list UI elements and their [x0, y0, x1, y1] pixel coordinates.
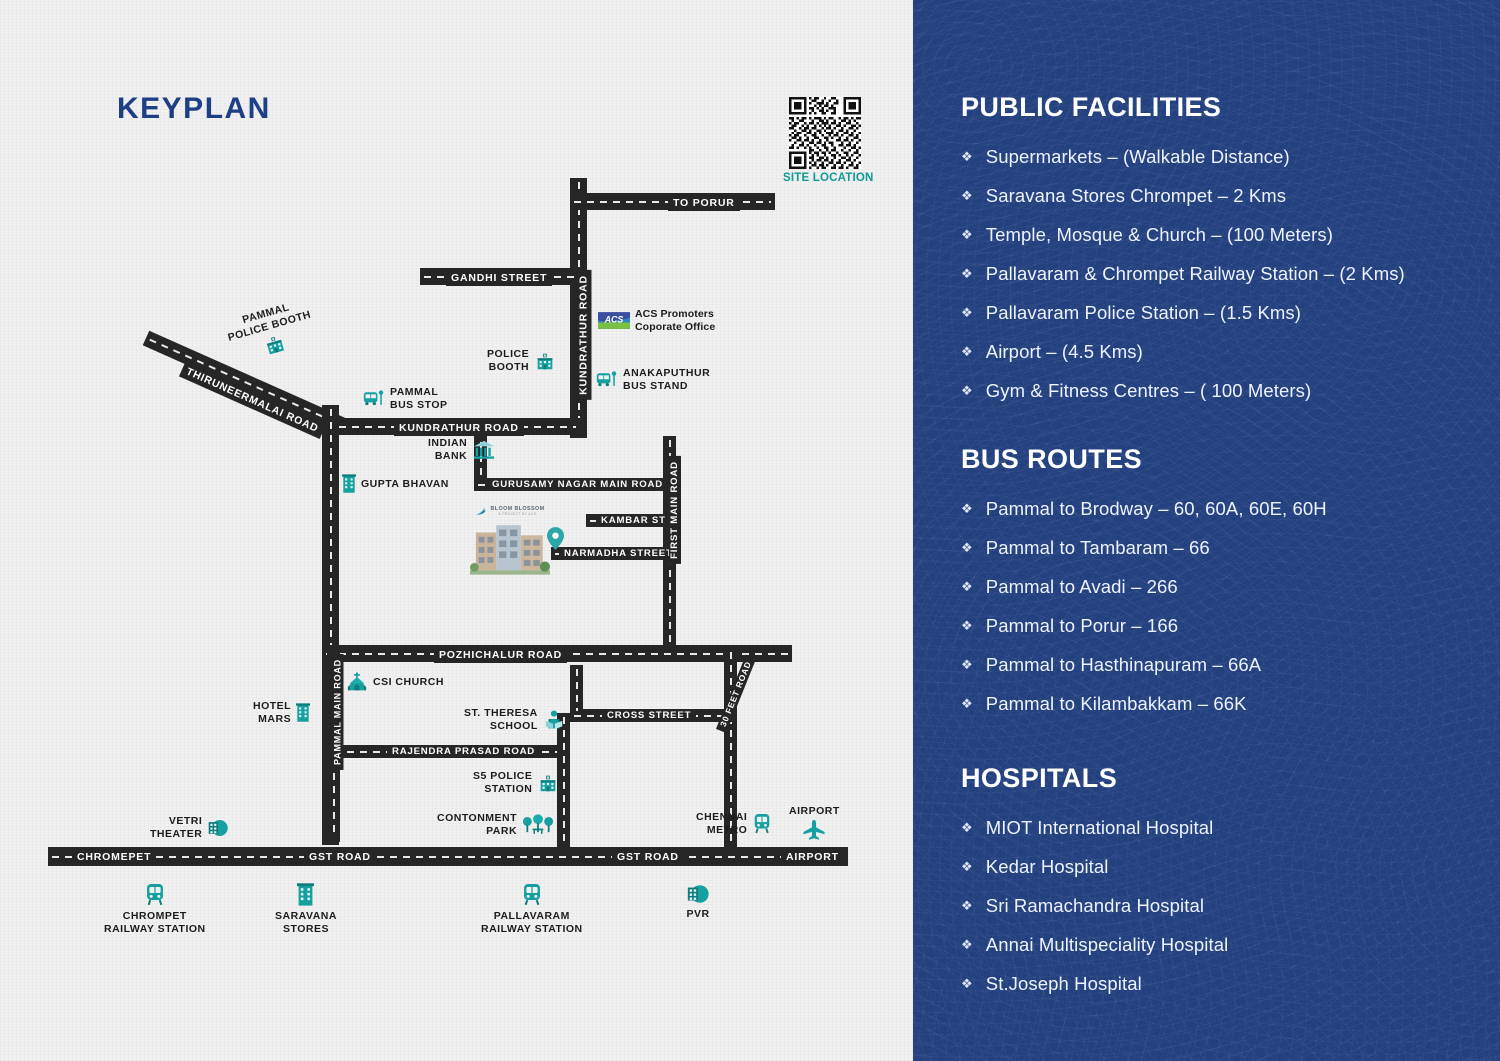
diamond-bullet-icon: ❖ — [961, 847, 973, 886]
list-item: ❖MIOT International Hospital — [961, 808, 1500, 847]
theater-icon — [686, 883, 710, 905]
school-icon — [543, 709, 565, 731]
landmark-label-line1: CSI CHURCH — [373, 676, 444, 688]
site-location-qr-block[interactable]: SITE LOCATION — [789, 97, 861, 184]
police-station-icon — [261, 331, 288, 358]
list-item: ❖Pammal to Hasthinapuram – 66A — [961, 645, 1500, 684]
section-title-bus-routes: BUS ROUTES — [961, 444, 1500, 475]
road-label-first-main: FIRST MAIN ROAD — [669, 456, 681, 564]
landmark-label-line1: PALLAVARAM — [494, 910, 570, 922]
project-site-render: BLOOM BLOSSOM A PROJECT BY ACS — [470, 505, 550, 577]
section-title-public-facilities: PUBLIC FACILITIES — [961, 92, 1500, 123]
landmark-chennai-metro: CHENNAI METRO — [696, 811, 772, 836]
landmark-label-line1: ACS Promoters — [635, 308, 714, 320]
list-item-label: MIOT International Hospital — [986, 808, 1214, 847]
landmark-label-line2: BANK — [435, 450, 467, 462]
road-label-pammal-main: PAMMAL MAIN ROAD — [333, 654, 344, 770]
list-item: ❖Pammal to Tambaram – 66 — [961, 528, 1500, 567]
list-item: ❖Pammal to Avadi – 266 — [961, 567, 1500, 606]
list-item: ❖Pallavaram Police Station – (1.5 Kms) — [961, 293, 1500, 332]
list-item-label: Gym & Fitness Centres – ( 100 Meters) — [986, 371, 1312, 410]
diamond-bullet-icon: ❖ — [961, 176, 973, 215]
landmark-label-line1: PVR — [686, 908, 709, 920]
list-item-label: St.Joseph Hospital — [986, 964, 1142, 1003]
list-item: ❖Supermarkets – (Walkable Distance) — [961, 137, 1500, 176]
list-item: ❖Saravana Stores Chrompet – 2 Kms — [961, 176, 1500, 215]
diamond-bullet-icon: ❖ — [961, 528, 973, 567]
bus-stop-icon — [596, 370, 618, 390]
road-label-kundrathur-horizontal: KUNDRATHUR ROAD — [394, 421, 524, 436]
diamond-bullet-icon: ❖ — [961, 254, 973, 293]
list-item-label: Saravana Stores Chrompet – 2 Kms — [986, 176, 1286, 215]
landmark-police-booth: POLICE BOOTH — [487, 348, 556, 373]
bank-icon — [472, 439, 496, 461]
diamond-bullet-icon: ❖ — [961, 371, 973, 410]
landmark-pammal-bus-stop: PAMMAL BUS STOP — [363, 386, 447, 411]
landmark-label-line1: GUPTA BHAVAN — [361, 478, 449, 490]
landmark-gupta-bhavan: GUPTA BHAVAN — [342, 474, 449, 494]
diamond-bullet-icon: ❖ — [961, 489, 973, 528]
landmark-pammal-police-booth: PAMMAL POLICE BOOTH — [223, 296, 319, 367]
diamond-bullet-icon: ❖ — [961, 215, 973, 254]
landmark-hotel-mars: HOTEL MARS — [253, 700, 310, 725]
road-label-gandhi-street: GANDHI STREET — [446, 271, 552, 286]
road-link-cross — [570, 665, 583, 715]
list-item-label: Kedar Hospital — [986, 847, 1109, 886]
landmark-label-line1: VETRI — [169, 815, 202, 827]
map-pin-icon[interactable] — [547, 527, 564, 550]
landmark-label-line2: BUS STOP — [390, 399, 447, 411]
road-label-to-porur: TO PORUR — [668, 196, 740, 211]
road-label-rajendra-prasad: RAJENDRA PRASAD ROAD — [387, 746, 540, 758]
project-building-illustration — [470, 517, 550, 577]
landmark-indian-bank: INDIAN BANK — [428, 437, 496, 462]
landmark-label-line1: AIRPORT — [789, 805, 840, 817]
landmark-label-line1: CHROMPET — [123, 910, 187, 922]
list-item: ❖Pallavaram & Chrompet Railway Station –… — [961, 254, 1500, 293]
list-item: ❖Sri Ramachandra Hospital — [961, 886, 1500, 925]
diamond-bullet-icon: ❖ — [961, 332, 973, 371]
landmark-airport: AIRPORT — [789, 805, 840, 841]
road-label-chromepet: CHROMEPET — [72, 850, 156, 865]
diamond-bullet-icon: ❖ — [961, 808, 973, 847]
info-panel: PUBLIC FACILITIES ❖Supermarkets – (Walka… — [913, 0, 1500, 1061]
landmark-label-line2: BUS STAND — [623, 380, 688, 392]
landmark-label-line2: THEATER — [150, 828, 202, 840]
train-icon — [144, 883, 166, 907]
landmark-vetri-theater: VETRI THEATER — [150, 815, 229, 840]
landmark-label-line2: PARK — [486, 825, 517, 837]
list-item: ❖Annai Multispeciality Hospital — [961, 925, 1500, 964]
theater-icon — [207, 818, 229, 838]
bloom-blossom-logo-icon — [475, 505, 487, 516]
landmark-label-line2: STORES — [283, 923, 329, 935]
page-title: KEYPLAN — [117, 92, 271, 126]
diamond-bullet-icon: ❖ — [961, 137, 973, 176]
landmark-csi-church: CSI CHURCH — [346, 672, 444, 692]
list-item: ❖Kedar Hospital — [961, 847, 1500, 886]
church-icon — [346, 672, 368, 692]
list-item-label: Temple, Mosque & Church – (100 Meters) — [986, 215, 1333, 254]
road-label-kambar-st: KAMBAR ST — [596, 515, 671, 527]
landmark-label-line1: INDIAN — [428, 437, 467, 449]
train-icon — [521, 883, 543, 907]
list-item: ❖Airport – (4.5 Kms) — [961, 332, 1500, 371]
landmark-chrompet-railway-station: CHROMPET RAILWAY STATION — [104, 883, 206, 935]
landmark-label-line1: HOTEL — [253, 700, 291, 712]
police-station-icon — [534, 350, 556, 372]
landmark-st-theresa-school: ST. THERESA SCHOOL — [464, 707, 565, 732]
diamond-bullet-icon: ❖ — [961, 925, 973, 964]
landmark-label-line2: RAILWAY STATION — [104, 923, 206, 935]
airplane-icon — [802, 819, 826, 841]
list-item-label: Pammal to Brodway – 60, 60A, 60E, 60H — [986, 489, 1327, 528]
list-item-label: Pammal to Porur – 166 — [986, 606, 1178, 645]
qr-code-icon[interactable] — [789, 97, 861, 169]
landmark-label-line1: S5 POLICE — [473, 770, 532, 782]
landmark-label-line1: SARAVANA — [275, 910, 337, 922]
list-item: ❖St.Joseph Hospital — [961, 964, 1500, 1003]
landmark-label-line2: MARS — [258, 713, 291, 725]
building-icon — [342, 474, 356, 494]
landmark-s5-police-station: S5 POLICE STATION — [473, 770, 559, 795]
landmark-label-line2: STATION — [484, 783, 532, 795]
landmark-label-line1: POLICE — [487, 348, 529, 360]
road-label-pozhichalur: POZHICHALUR ROAD — [434, 648, 567, 663]
list-item: ❖Gym & Fitness Centres – ( 100 Meters) — [961, 371, 1500, 410]
site-location-label: SITE LOCATION — [783, 172, 861, 184]
road-label-gst-left: GST ROAD — [304, 850, 376, 865]
svg-text:ACS: ACS — [604, 315, 624, 325]
road-label-narmadha-street: NARMADHA STREET — [559, 548, 678, 560]
landmark-pvr: PVR — [686, 883, 710, 921]
landmark-saravana-stores: SARAVANA STORES — [275, 883, 337, 935]
landmark-label-line1: CHENNAI — [696, 811, 747, 823]
project-logo-tagline: A PROJECT BY ACS — [490, 512, 544, 516]
landmark-label-line2: BOOTH — [489, 361, 529, 373]
landmark-label-line2: Coporate Office — [635, 321, 715, 333]
diamond-bullet-icon: ❖ — [961, 645, 973, 684]
road-label-gst-right: GST ROAD — [612, 850, 684, 865]
diamond-bullet-icon: ❖ — [961, 293, 973, 332]
landmark-label-line2: METRO — [707, 824, 747, 836]
list-item-label: Pammal to Avadi – 266 — [986, 567, 1178, 606]
landmark-pallavaram-railway-station: PALLAVARAM RAILWAY STATION — [481, 883, 583, 935]
diamond-bullet-icon: ❖ — [961, 964, 973, 1003]
list-item-label: Pammal to Tambaram – 66 — [986, 528, 1210, 567]
train-icon — [752, 813, 772, 835]
road-label-gurusamy-nagar: GURUSAMY NAGAR MAIN ROAD — [487, 479, 668, 491]
list-item-label: Annai Multispeciality Hospital — [986, 925, 1229, 964]
list-item-label: Pammal to Kilambakkam – 66K — [986, 684, 1247, 723]
road-label-kundrathur-vertical: KUNDRATHUR ROAD — [577, 270, 592, 400]
diamond-bullet-icon: ❖ — [961, 606, 973, 645]
landmark-label-line2: RAILWAY STATION — [481, 923, 583, 935]
road-label-airport: AIRPORT — [781, 850, 844, 865]
list-item: ❖Pammal to Kilambakkam – 66K — [961, 684, 1500, 723]
landmark-label-line1: ST. THERESA — [464, 707, 538, 719]
list-public-facilities: ❖Supermarkets – (Walkable Distance) ❖Sar… — [961, 137, 1500, 410]
bus-stop-icon — [363, 389, 385, 409]
list-item-label: Pallavaram Police Station – (1.5 Kms) — [986, 293, 1301, 332]
list-hospitals: ❖MIOT International Hospital ❖Kedar Hosp… — [961, 808, 1500, 1003]
list-item: ❖Temple, Mosque & Church – (100 Meters) — [961, 215, 1500, 254]
diamond-bullet-icon: ❖ — [961, 684, 973, 723]
list-item-label: Airport – (4.5 Kms) — [986, 332, 1143, 371]
landmark-label-line2: SCHOOL — [490, 720, 538, 732]
acs-logo-icon: ACS — [598, 312, 630, 329]
list-item: ❖Pammal to Porur – 166 — [961, 606, 1500, 645]
road-gst — [48, 847, 848, 866]
landmark-label-line1: CONTONMENT — [437, 812, 517, 824]
list-item-label: Supermarkets – (Walkable Distance) — [986, 137, 1290, 176]
list-bus-routes: ❖Pammal to Brodway – 60, 60A, 60E, 60H ❖… — [961, 489, 1500, 723]
building-icon — [296, 703, 310, 723]
project-logo-text: BLOOM BLOSSOM — [490, 506, 544, 512]
park-icon — [522, 814, 554, 836]
landmark-acs-corporate-office: ACS ACS Promoters Coporate Office — [598, 308, 715, 333]
landmark-label-line1: PAMMAL — [390, 386, 438, 398]
keyplan-page: KEYPLAN — [0, 0, 1500, 1061]
section-title-hospitals: HOSPITALS — [961, 763, 1500, 794]
landmark-anakaputhur-bus-stand: ANAKAPUTHUR BUS STAND — [596, 367, 710, 392]
diamond-bullet-icon: ❖ — [961, 886, 973, 925]
list-item: ❖Pammal to Brodway – 60, 60A, 60E, 60H — [961, 489, 1500, 528]
building-icon — [297, 883, 314, 907]
keyplan-map: KEYPLAN — [0, 0, 913, 1061]
list-item-label: Sri Ramachandra Hospital — [986, 886, 1204, 925]
police-station-icon — [537, 772, 559, 794]
landmark-contonment-park: CONTONMENT PARK — [437, 812, 554, 837]
list-item-label: Pallavaram & Chrompet Railway Station – … — [986, 254, 1405, 293]
landmark-label-line1: ANAKAPUTHUR — [623, 367, 710, 379]
road-label-cross-street: CROSS STREET — [602, 710, 696, 722]
list-item-label: Pammal to Hasthinapuram – 66A — [986, 645, 1261, 684]
diamond-bullet-icon: ❖ — [961, 567, 973, 606]
